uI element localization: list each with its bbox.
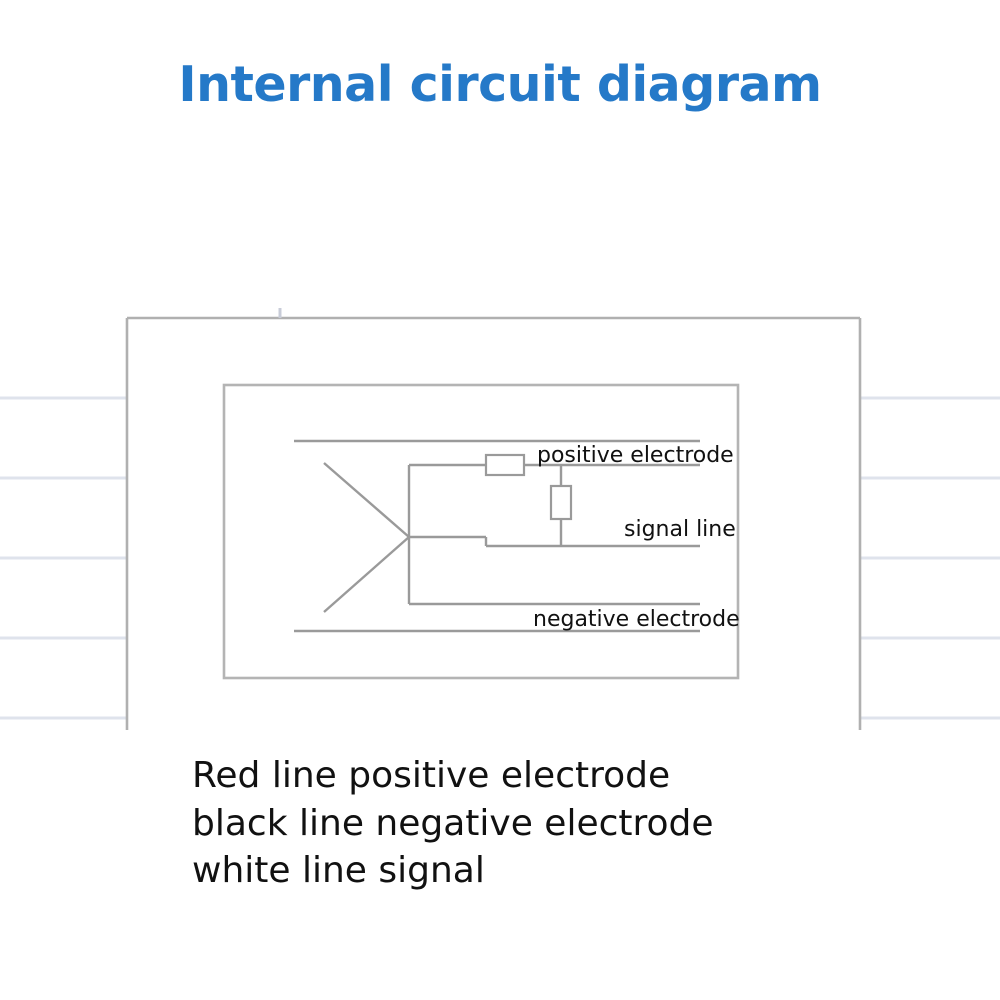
label-positive-electrode: positive electrode — [537, 443, 734, 468]
outer-frame — [127, 318, 860, 730]
caption-line-1: Red line positive electrode — [192, 752, 892, 800]
caption-line-2: black line negative electrode — [192, 800, 892, 848]
caption-line-3: white line signal — [192, 847, 892, 895]
caption-block: Red line positive electrode black line n… — [192, 752, 892, 895]
wire-diagonal-upper — [324, 463, 409, 537]
wire-diagonal-lower — [324, 537, 409, 612]
label-negative-electrode: negative electrode — [533, 607, 740, 632]
resistor-vertical — [551, 486, 571, 519]
page-root: Internal circuit diagram — [0, 0, 1000, 1000]
label-signal-line: signal line — [624, 517, 736, 542]
resistor-horizontal — [486, 455, 524, 475]
